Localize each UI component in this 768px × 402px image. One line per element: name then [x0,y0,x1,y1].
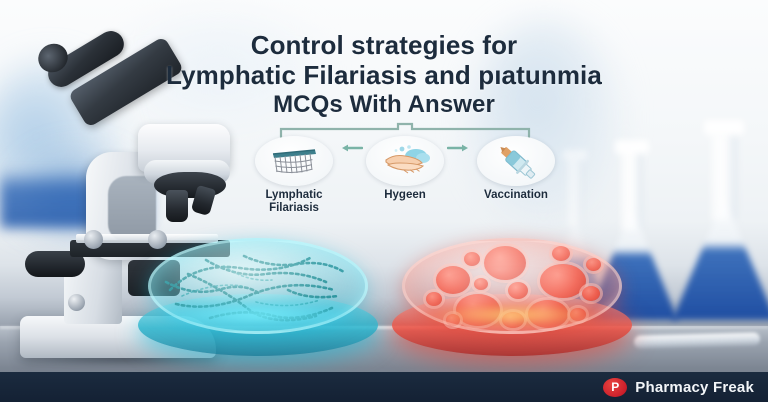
footer-bar: P Pharmacy Freak [0,372,768,402]
petri-dish-glow [162,302,354,328]
handwashing-icon [378,144,432,178]
flow-step-label: Lymphatic Filariasis [252,189,336,215]
mosquito-net-icon [269,145,319,177]
flask-neck [567,160,583,226]
poster-image: Control strategies for Lymphatic Filaria… [0,0,768,402]
microscope-stage-knob-left [84,230,103,249]
microscope-objective-lens-1 [166,190,188,222]
flow-step-lymphatic-filariasis: Lymphatic Filariasis [252,136,336,215]
microscope-arm-inner [108,176,156,242]
flow-step-label: Hygeen [363,189,447,202]
icon-bubble [477,136,555,186]
title-line-3: MCQs With Answer [0,91,768,119]
brand-logo[interactable]: P Pharmacy Freak [603,378,754,397]
icon-bubble [366,136,444,186]
flask-lip [704,120,744,135]
flask-right [672,120,768,320]
flask-lip [615,140,649,154]
flow-steps: Lymphatic Filariasis [252,136,558,218]
petri-dish-glow [420,302,606,328]
flask-body [672,198,768,320]
flask-lip [563,150,587,160]
petri-dish-filarial-worms [142,238,374,356]
microscope-fine-knob [68,294,85,311]
brand-name: Pharmacy Freak [635,379,754,396]
icon-bubble [255,136,333,186]
control-strategy-flow: Lymphatic Filariasis [252,122,558,218]
title-line-1: Control strategies for [0,30,768,60]
pharmacy-freak-logo-icon: P [603,378,627,397]
petri-dish-bacterial-colonies [396,238,628,356]
flow-step-vaccination: Vaccination [474,136,558,202]
title-line-2: Lymphatic Filariasis and pıatunmia [0,60,768,90]
syringe-icon [492,141,540,181]
poster-title: Control strategies for Lymphatic Filaria… [0,30,768,119]
flow-step-label: Vaccination [474,189,558,202]
flow-step-hygiene: Hygeen [363,136,447,202]
